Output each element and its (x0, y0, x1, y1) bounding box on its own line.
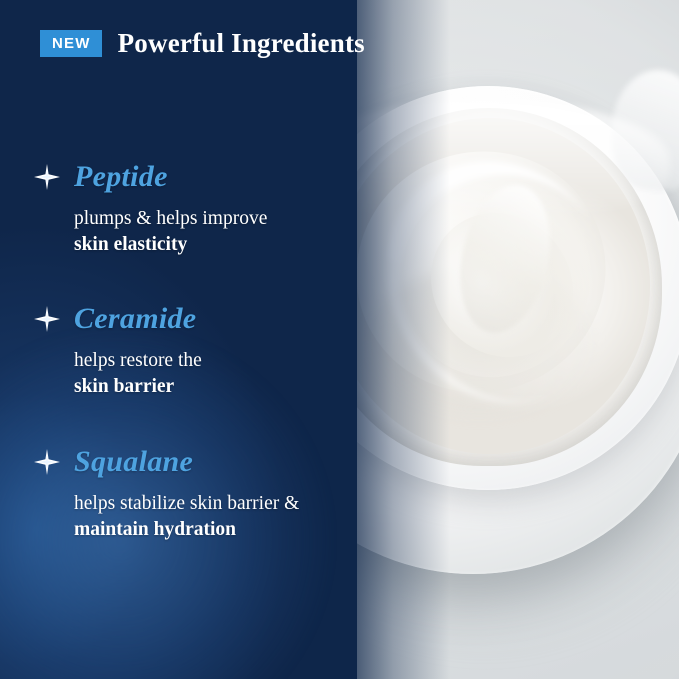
ingredient-description: helps restore the skin barrier (74, 348, 324, 400)
product-infographic: NEW Powerful Ingredients Peptide plumps … (0, 0, 679, 679)
ingredient-description: plumps & helps improve skin elasticity (74, 206, 324, 258)
ingredient-header: Squalane (34, 445, 344, 479)
ingredient-item-peptide: Peptide plumps & helps improve skin elas… (34, 160, 344, 258)
sparkle-icon (34, 164, 60, 190)
ingredient-item-ceramide: Ceramide helps restore the skin barrier (34, 302, 344, 400)
ingredient-desc-bold: maintain hydration (74, 519, 236, 540)
ingredient-name: Ceramide (74, 302, 196, 336)
ingredient-name: Squalane (74, 445, 193, 479)
new-badge: NEW (40, 30, 102, 57)
sparkle-icon (34, 449, 60, 475)
ingredient-header: Ceramide (34, 302, 344, 336)
header: NEW Powerful Ingredients (40, 28, 365, 59)
ingredient-desc-lead: plumps & helps improve (74, 208, 267, 229)
ingredient-name: Peptide (74, 160, 168, 194)
ingredient-item-squalane: Squalane helps stabilize skin barrier & … (34, 445, 344, 543)
ingredient-desc-bold: skin elasticity (74, 234, 187, 255)
sparkle-icon (34, 306, 60, 332)
ingredient-list: Peptide plumps & helps improve skin elas… (34, 160, 344, 587)
ingredient-desc-lead: helps stabilize skin barrier & (74, 493, 299, 514)
ingredient-header: Peptide (34, 160, 344, 194)
ingredient-desc-bold: skin barrier (74, 376, 174, 397)
page-title: Powerful Ingredients (118, 28, 365, 59)
ingredient-desc-lead: helps restore the (74, 350, 202, 371)
ingredient-description: helps stabilize skin barrier & maintain … (74, 491, 324, 543)
